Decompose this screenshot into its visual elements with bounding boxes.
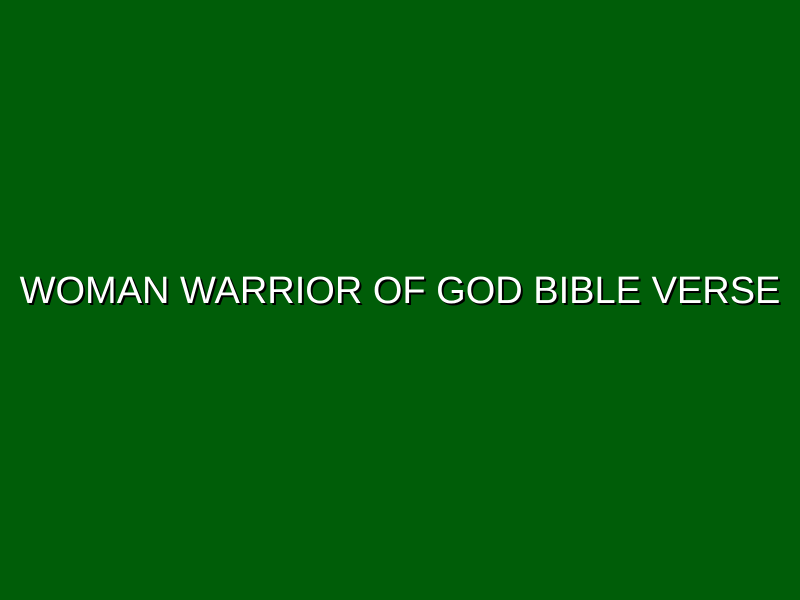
page-title: WOMAN WARRIOR OF GOD BIBLE VERSE [20, 271, 781, 313]
title-card: WOMAN WARRIOR OF GOD BIBLE VERSE [0, 0, 800, 600]
